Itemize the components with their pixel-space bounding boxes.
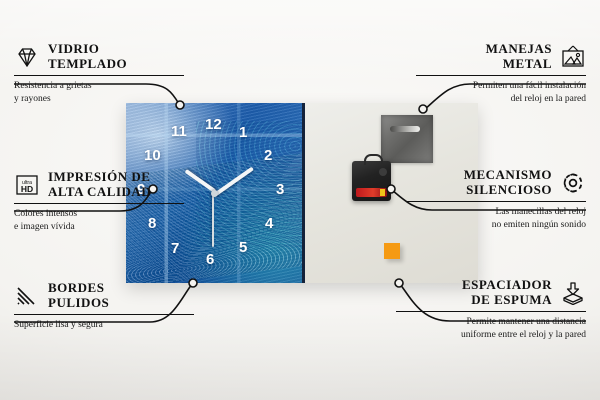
callout-title: ESPACIADOR DE ESPUMA xyxy=(462,278,552,308)
divider xyxy=(14,203,184,205)
divider xyxy=(406,201,586,203)
callout-espaciador-de-espuma: ESPACIADOR DE ESPUMA Permite mantener un… xyxy=(396,278,586,342)
callout-vidrio-templado: VIDRIO TEMPLADO Resistencia a grietas y … xyxy=(14,42,184,106)
callout-mecanismo-silencioso: MECANISMO SILENCIOSO Las manecillas del … xyxy=(406,168,586,232)
callout-subtitle: Las manecillas del reloj no emiten ningú… xyxy=(406,206,586,232)
callout-impresion-alta-calidad: ultra HD IMPRESIÓN DE ALTA CALIDAD Color… xyxy=(14,170,184,234)
callout-subtitle: Colores intensos e imagen vívida xyxy=(14,208,184,234)
polished-edge-icon xyxy=(14,284,40,308)
gear-icon xyxy=(560,171,586,195)
callout-subtitle: Permite mantener una distancia uniforme … xyxy=(396,316,586,342)
callout-title: VIDRIO TEMPLADO xyxy=(48,42,127,72)
callout-manejas-metal: MANEJAS METAL Permiten una fácil instala… xyxy=(416,42,586,106)
callout-title: MANEJAS METAL xyxy=(486,42,552,72)
callout-bordes-pulidos: BORDES PULIDOS Superficie lisa y segura xyxy=(14,281,194,332)
framed-picture-hanger-icon xyxy=(560,45,586,69)
callout-title: MECANISMO SILENCIOSO xyxy=(464,168,552,198)
divider xyxy=(14,314,194,316)
svg-text:HD: HD xyxy=(21,184,33,194)
spacer-arrow-icon xyxy=(560,281,586,305)
divider xyxy=(416,75,586,77)
diamond-icon xyxy=(14,45,40,69)
callout-title: BORDES PULIDOS xyxy=(48,281,109,311)
divider xyxy=(396,311,586,313)
callout-title: IMPRESIÓN DE ALTA CALIDAD xyxy=(48,170,151,200)
infographic-canvas: 121234567891011 xyxy=(0,0,600,400)
callout-subtitle: Superficie lisa y segura xyxy=(14,319,194,332)
connector-dot-manejas-metal xyxy=(419,105,427,113)
ultra-hd-icon: ultra HD xyxy=(14,173,40,197)
callout-subtitle: Resistencia a grietas y rayones xyxy=(14,80,184,106)
connector-dot-mecanismo xyxy=(387,185,395,193)
divider xyxy=(14,75,184,77)
callout-subtitle: Permiten una fácil instalación del reloj… xyxy=(416,80,586,106)
